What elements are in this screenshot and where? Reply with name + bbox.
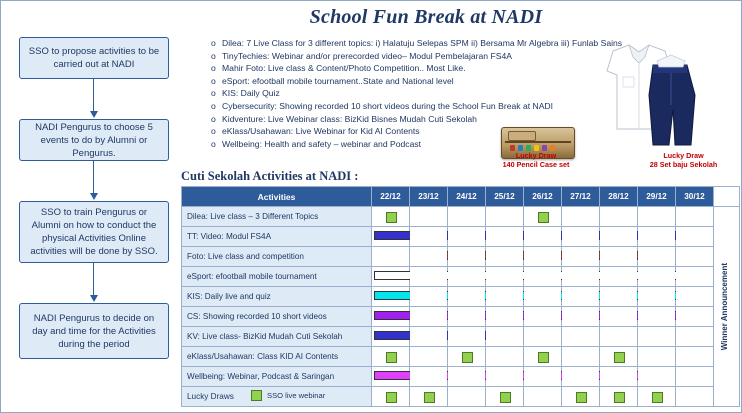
- flow-step-1-label: SSO to propose activities to be carried …: [27, 45, 161, 71]
- bullet-text: eKlass/Usahawan: Live Webinar for Kid AI…: [222, 126, 420, 136]
- lucky-draw-uniform-title: Lucky Draw: [631, 151, 736, 160]
- lucky-draw-pencil-desc: 140 Pencil Case set: [471, 160, 601, 169]
- schedule-cell: [486, 227, 524, 247]
- bullet-marker-icon: o: [211, 75, 222, 88]
- schedule-cell: [600, 287, 638, 307]
- schedule-cell: [600, 227, 638, 247]
- schedule-cell: [562, 387, 600, 407]
- schedule-cell: [372, 287, 410, 307]
- schedule-cell: [676, 267, 714, 287]
- bullet-marker-icon: o: [211, 87, 222, 100]
- row-label: TT: Video: Modul FS4A: [182, 227, 372, 247]
- schedule-cell: [524, 287, 562, 307]
- schedule-cell: [372, 267, 410, 287]
- header-date-5: 27/12: [562, 187, 600, 207]
- schedule-cell: [410, 327, 448, 347]
- schedule-cell: [638, 307, 676, 327]
- schedule-cell: [638, 287, 676, 307]
- bullet-marker-icon: o: [211, 113, 222, 126]
- bullet-marker-icon: o: [211, 50, 222, 63]
- bullet-marker-icon: o: [211, 100, 222, 113]
- schedule-cell: [486, 307, 524, 327]
- table-row: Wellbeing: Webinar, Podcast & Saringan: [182, 367, 740, 387]
- schedule-cell: [524, 207, 562, 227]
- bullet-text: Wellbeing: Health and safety – webinar a…: [222, 139, 421, 149]
- schedule-cell: [676, 347, 714, 367]
- schedule-cell: [562, 247, 600, 267]
- schedule-cell: [524, 367, 562, 387]
- flow-step-3[interactable]: SSO to train Pengurus or Alumni on how t…: [19, 201, 169, 263]
- flow-step-3-label: SSO to train Pengurus or Alumni on how t…: [27, 206, 161, 258]
- bullet-text: Dilea: 7 Live Class for 3 different topi…: [222, 38, 622, 48]
- row-label: CS: Showing recorded 10 short videos: [182, 307, 372, 327]
- header-date-3: 25/12: [486, 187, 524, 207]
- flow-step-1[interactable]: SSO to propose activities to be carried …: [19, 37, 169, 79]
- flow-arrow-3-icon: [90, 295, 98, 302]
- table-row: KV: Live class- BizKid Mudah Cuti Sekola…: [182, 327, 740, 347]
- bullet-text: KIS: Daily Quiz: [222, 88, 280, 98]
- schedule-cell: [410, 387, 448, 407]
- sso-webinar-marker-icon: [386, 352, 397, 363]
- schedule-cell: [448, 247, 486, 267]
- sso-webinar-marker-icon: [424, 392, 435, 403]
- schedule-cell: [448, 367, 486, 387]
- flow-step-2[interactable]: NADI Pengurus to choose 5 events to do b…: [19, 119, 169, 161]
- table-row: KIS: Daily live and quiz: [182, 287, 740, 307]
- header-date-6: 28/12: [600, 187, 638, 207]
- schedule-cell: [372, 347, 410, 367]
- winner-announcement-label: Winner Announcement: [714, 263, 736, 350]
- header-date-0: 22/12: [372, 187, 410, 207]
- page-title: School Fun Break at NADI: [216, 6, 636, 29]
- schedule-cell: [524, 267, 562, 287]
- schedule-cell: [600, 307, 638, 327]
- schedule-cell: [524, 327, 562, 347]
- schedule-cell: [562, 347, 600, 367]
- legend-label: SSO live webinar: [267, 391, 325, 400]
- table-row: eKlass/Usahawan: Class KID AI Contents: [182, 347, 740, 367]
- schedule-cell: [448, 347, 486, 367]
- legend-swatch-icon: [251, 390, 262, 401]
- lucky-draw-pencil-case: Lucky Draw 140 Pencil Case set: [471, 151, 601, 169]
- lucky-draw-uniform-desc: 28 Set baju Sekolah: [631, 160, 736, 169]
- schedule-cell: [410, 307, 448, 327]
- schedule-cell: [600, 267, 638, 287]
- schedule-header-row: Activities 22/12 23/12 24/12 25/12 26/12…: [182, 187, 740, 207]
- table-row: CS: Showing recorded 10 short videos: [182, 307, 740, 327]
- schedule-cell: [600, 367, 638, 387]
- header-date-7: 29/12: [638, 187, 676, 207]
- row-label: Dilea: Live class – 3 Different Topics: [182, 207, 372, 227]
- schedule-table-wrapper: Activities 22/12 23/12 24/12 25/12 26/12…: [181, 186, 729, 407]
- schedule-cell: [486, 367, 524, 387]
- bullet-marker-icon: o: [211, 62, 222, 75]
- schedule-body: Dilea: Live class – 3 Different TopicsWi…: [182, 207, 740, 407]
- schedule-cell: [638, 267, 676, 287]
- schedule-cell: [486, 287, 524, 307]
- schedule-cell: [448, 287, 486, 307]
- table-row: TT: Video: Modul FS4A: [182, 227, 740, 247]
- schedule-cell: [600, 347, 638, 367]
- slide-root: School Fun Break at NADI SSO to propose …: [0, 0, 742, 413]
- schedule-cell: [600, 247, 638, 267]
- row-label: Foto: Live class and competition: [182, 247, 372, 267]
- schedule-cell: [562, 367, 600, 387]
- schedule-cell: [486, 247, 524, 267]
- schedule-cell: [486, 207, 524, 227]
- flow-step-4-label: NADI Pengurus to decide on day and time …: [27, 312, 161, 351]
- schedule-cell: [638, 227, 676, 247]
- schedule-cell: [410, 247, 448, 267]
- schedule-cell: [410, 207, 448, 227]
- sso-webinar-marker-icon: [386, 212, 397, 223]
- bullet-text: Mahir Foto: Live class & Content/Photo C…: [222, 63, 466, 73]
- pencil-case-zipper: [505, 141, 571, 143]
- header-activities: Activities: [182, 187, 372, 207]
- schedule-cell: [372, 207, 410, 227]
- schedule-cell: [638, 387, 676, 407]
- winner-announcement-cell: Winner Announcement: [714, 207, 740, 407]
- schedule-cell: [638, 347, 676, 367]
- school-uniform-svg: [591, 43, 703, 153]
- schedule-cell: [562, 327, 600, 347]
- schedule-cell: [676, 207, 714, 227]
- schedule-cell: [600, 327, 638, 347]
- sso-webinar-marker-icon: [538, 212, 549, 223]
- row-label: KIS: Daily live and quiz: [182, 287, 372, 307]
- schedule-cell: [448, 207, 486, 227]
- flow-arrow-1-icon: [90, 111, 98, 118]
- table-row: Dilea: Live class – 3 Different TopicsWi…: [182, 207, 740, 227]
- header-winner: [714, 187, 740, 207]
- schedule-cell: [372, 247, 410, 267]
- schedule-cell: [676, 287, 714, 307]
- flow-connector-2: [93, 161, 94, 195]
- schedule-cell: [676, 327, 714, 347]
- header-date-1: 23/12: [410, 187, 448, 207]
- bullet-text: TinyTechies: Webinar and/or prerecorded …: [222, 51, 512, 61]
- bullet-text: eSport: efootball mobile tournament..Sta…: [222, 76, 454, 86]
- sso-webinar-marker-icon: [462, 352, 473, 363]
- bullet-marker-icon: o: [211, 37, 222, 50]
- schedule-table: Activities 22/12 23/12 24/12 25/12 26/12…: [181, 186, 740, 407]
- flow-connector-1: [93, 79, 94, 113]
- schedule-cell: [676, 307, 714, 327]
- schedule-cell: [600, 207, 638, 227]
- schedule-cell: [486, 387, 524, 407]
- header-date-4: 26/12: [524, 187, 562, 207]
- schedule-cell: [524, 227, 562, 247]
- schedule-cell: [562, 227, 600, 247]
- row-label: eSport: efootball mobile tournament: [182, 267, 372, 287]
- schedule-cell: [562, 207, 600, 227]
- schedule-cell: [486, 267, 524, 287]
- schedule-cell: [638, 327, 676, 347]
- schedule-cell: [486, 327, 524, 347]
- sso-webinar-marker-icon: [614, 392, 625, 403]
- schedule-cell: [448, 327, 486, 347]
- schedule-cell: [524, 247, 562, 267]
- schedule-cell: [524, 387, 562, 407]
- table-row: Foto: Live class and competition: [182, 247, 740, 267]
- schedule-cell: [410, 227, 448, 247]
- sso-webinar-marker-icon: [614, 352, 625, 363]
- bullet-marker-icon: o: [211, 138, 222, 151]
- schedule-cell: [562, 267, 600, 287]
- schedule-cell: [562, 307, 600, 327]
- schedule-cell: [448, 387, 486, 407]
- schedule-cell: [372, 367, 410, 387]
- schedule-cell: [638, 247, 676, 267]
- schedule-cell: [524, 307, 562, 327]
- school-uniform-image: [591, 43, 703, 153]
- schedule-cell: [410, 367, 448, 387]
- schedule-cell: [372, 227, 410, 247]
- schedule-cell: [372, 387, 410, 407]
- schedule-cell: [562, 287, 600, 307]
- sso-webinar-marker-icon: [576, 392, 587, 403]
- schedule-cell: [486, 347, 524, 367]
- schedule-cell: [448, 227, 486, 247]
- schedule-cell: [410, 267, 448, 287]
- schedule-cell: [410, 347, 448, 367]
- schedule-cell: [638, 367, 676, 387]
- bullet-marker-icon: o: [211, 125, 222, 138]
- lucky-draw-uniform: Lucky Draw 28 Set baju Sekolah: [631, 151, 736, 169]
- row-label: KV: Live class- BizKid Mudah Cuti Sekola…: [182, 327, 372, 347]
- sso-webinar-marker-icon: [386, 392, 397, 403]
- row-label: eKlass/Usahawan: Class KID AI Contents: [182, 347, 372, 367]
- bullet-text: Kidventure: Live Webinar class: BizKid B…: [222, 114, 477, 124]
- schedule-cell: [372, 327, 410, 347]
- schedule-cell: [676, 387, 714, 407]
- schedule-cell: [372, 307, 410, 327]
- lucky-draw-pencil-title: Lucky Draw: [471, 151, 601, 160]
- table-row: eSport: efootball mobile tournament: [182, 267, 740, 287]
- schedule-cell: [676, 367, 714, 387]
- schedule-cell: [448, 267, 486, 287]
- schedule-cell: [448, 307, 486, 327]
- schedule-cell: [600, 387, 638, 407]
- schedule-cell: [638, 207, 676, 227]
- sso-webinar-marker-icon: [538, 352, 549, 363]
- schedule-cell: [410, 287, 448, 307]
- header-date-8: 30/12: [676, 187, 714, 207]
- flow-step-2-label: NADI Pengurus to choose 5 events to do b…: [27, 121, 161, 160]
- flow-connector-3: [93, 263, 94, 297]
- flow-step-4[interactable]: NADI Pengurus to decide on day and time …: [19, 303, 169, 359]
- schedule-heading: Cuti Sekolah Activities at NADI :: [181, 169, 358, 184]
- sso-webinar-marker-icon: [500, 392, 511, 403]
- pencil-case-flap: [508, 131, 536, 141]
- row-label: Wellbeing: Webinar, Podcast & Saringan: [182, 367, 372, 387]
- legend: SSO live webinar: [251, 390, 325, 401]
- sso-webinar-marker-icon: [652, 392, 663, 403]
- schedule-cell: [676, 227, 714, 247]
- header-date-2: 24/12: [448, 187, 486, 207]
- schedule-cell: [524, 347, 562, 367]
- schedule-cell: [676, 247, 714, 267]
- flow-arrow-2-icon: [90, 193, 98, 200]
- bullet-text: Cybersecurity: Showing recorded 10 short…: [222, 101, 553, 111]
